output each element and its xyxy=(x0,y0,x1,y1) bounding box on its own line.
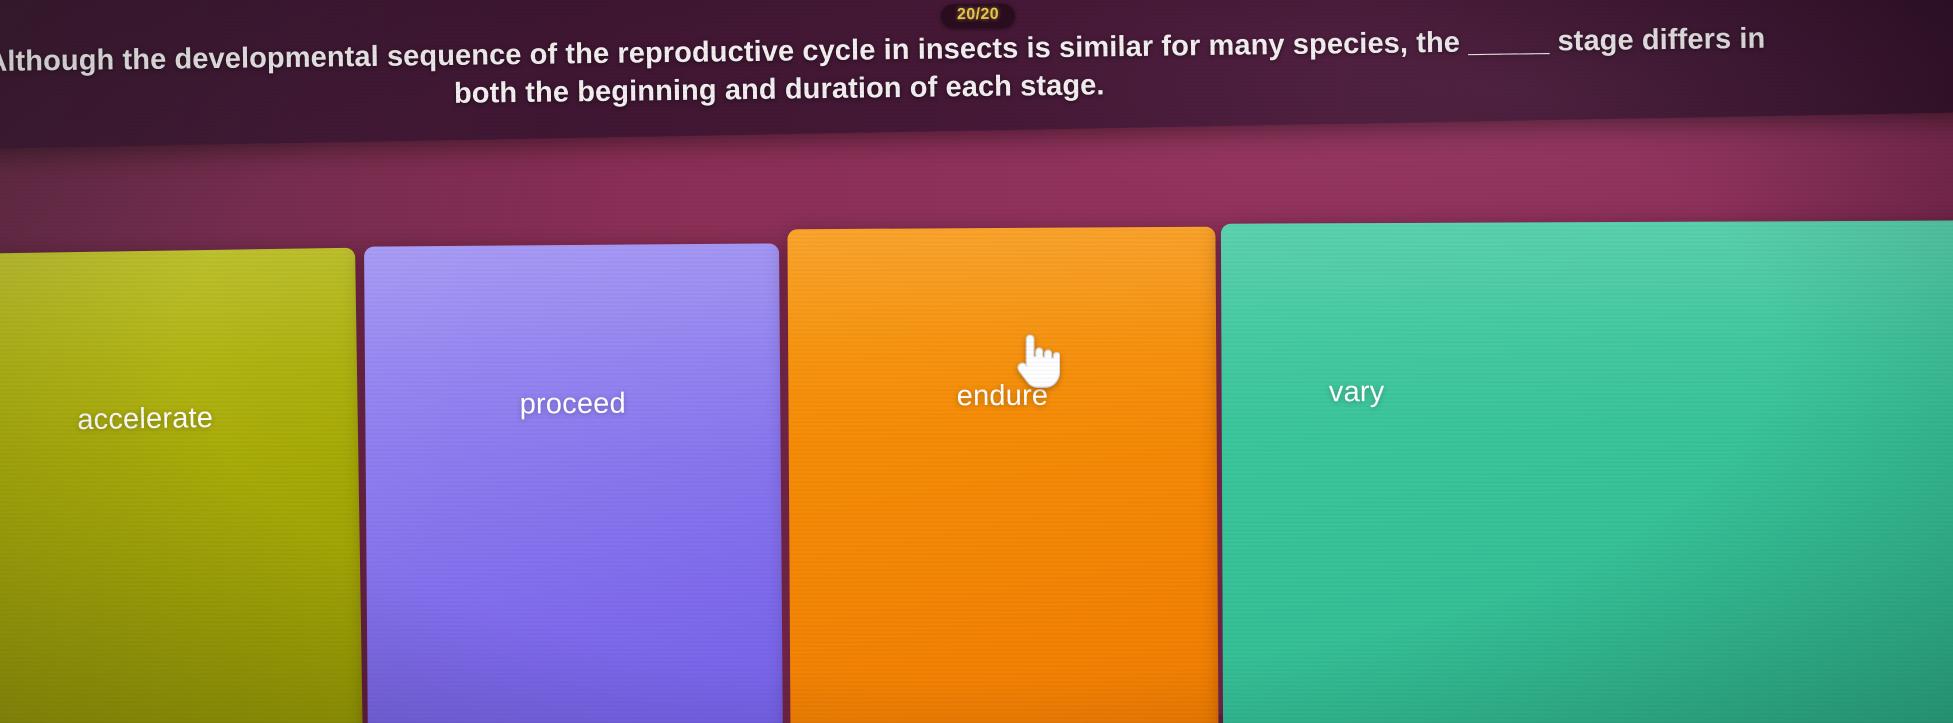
answer-card-label: proceed xyxy=(365,386,780,422)
answer-card-label: vary xyxy=(1222,376,1492,410)
answer-card-endure[interactable]: endure xyxy=(787,227,1218,723)
score-badge: 20/20 xyxy=(941,4,1015,29)
answer-card-label: endure xyxy=(788,379,1216,415)
answer-card-label: accelerate xyxy=(0,400,358,440)
card-gloss xyxy=(364,243,781,458)
answer-card-vary[interactable]: vary xyxy=(1221,220,1953,723)
answer-card-accelerate[interactable]: accelerate xyxy=(0,248,363,723)
answer-card-proceed[interactable]: proceed xyxy=(364,243,783,723)
quiz-screen: 20/20 Although the developmental sequenc… xyxy=(0,0,1953,723)
score-badge-text: 20/20 xyxy=(957,7,999,23)
